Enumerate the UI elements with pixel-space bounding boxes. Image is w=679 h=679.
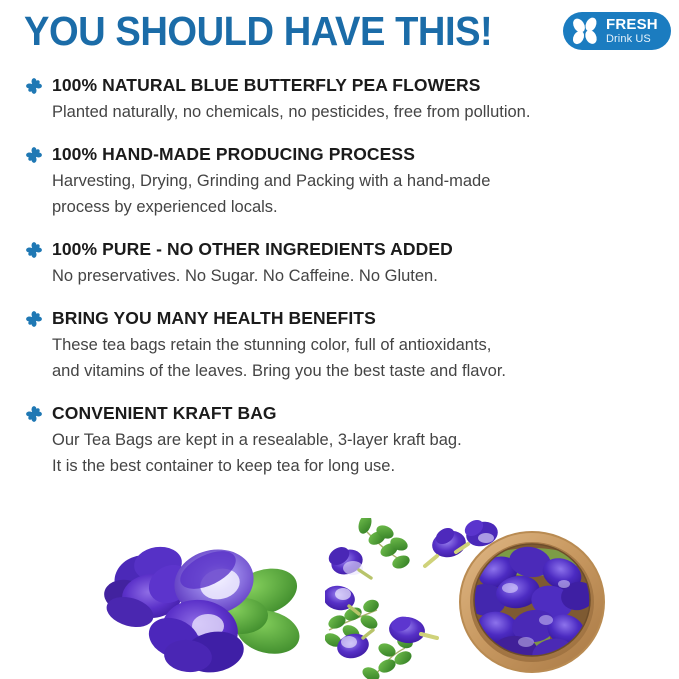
flower-asterisk-icon (26, 78, 42, 94)
feature-heading: 100% PURE - NO OTHER INGREDIENTS ADDED (52, 238, 679, 261)
logo-brand-primary: FRESH (606, 17, 658, 32)
logo-text: FRESH Drink US (606, 17, 658, 45)
feature-item: 100% PURE - NO OTHER INGREDIENTS ADDED N… (0, 238, 679, 289)
feature-body-line: Harvesting, Drying, Grinding and Packing… (52, 168, 679, 194)
feature-item: 100% HAND-MADE PRODUCING PROCESS Harvest… (0, 143, 679, 220)
feature-body-line: Planted naturally, no chemicals, no pest… (52, 99, 679, 125)
feature-body-line: Our Tea Bags are kept in a resealable, 3… (52, 427, 679, 453)
flower-asterisk-icon (26, 147, 42, 163)
butterfly-pea-flower-cluster-photo (96, 530, 316, 679)
feature-body: Planted naturally, no chemicals, no pest… (52, 99, 679, 125)
feature-item: CONVENIENT KRAFT BAG Our Tea Bags are ke… (0, 402, 679, 479)
feature-heading: 100% NATURAL BLUE BUTTERFLY PEA FLOWERS (52, 74, 679, 97)
feature-body-line: and vitamins of the leaves. Bring you th… (52, 358, 679, 384)
page-title: YOU SHOULD HAVE THIS! (24, 8, 492, 54)
flower-asterisk-icon (26, 311, 42, 327)
feature-body: No preservatives. No Sugar. No Caffeine.… (52, 263, 679, 289)
feature-body-line: process by experienced locals. (52, 194, 679, 220)
product-feature-infographic: YOU SHOULD HAVE THIS! FRESH Drink US (0, 0, 679, 679)
logo-brand-secondary: Drink US (606, 34, 658, 45)
product-photo-strip (0, 518, 679, 679)
feature-list: 100% NATURAL BLUE BUTTERFLY PEA FLOWERS … (0, 74, 679, 497)
feature-heading: BRING YOU MANY HEALTH BENEFITS (52, 307, 679, 330)
feature-item: BRING YOU MANY HEALTH BENEFITS These tea… (0, 307, 679, 384)
feature-body-line: It is the best container to keep tea for… (52, 453, 679, 479)
single-flower-photo (452, 518, 508, 563)
feature-body: These tea bags retain the stunning color… (52, 332, 679, 384)
feature-body-line: No preservatives. No Sugar. No Caffeine.… (52, 263, 679, 289)
feature-body: Our Tea Bags are kept in a resealable, 3… (52, 427, 679, 479)
header: YOU SHOULD HAVE THIS! FRESH Drink US (0, 0, 679, 66)
fresh-drink-us-logo[interactable]: FRESH Drink US (563, 12, 671, 50)
flower-asterisk-icon (26, 406, 42, 422)
feature-heading: 100% HAND-MADE PRODUCING PROCESS (52, 143, 679, 166)
feature-item: 100% NATURAL BLUE BUTTERFLY PEA FLOWERS … (0, 74, 679, 125)
feature-body: Harvesting, Drying, Grinding and Packing… (52, 168, 679, 220)
feature-heading: CONVENIENT KRAFT BAG (52, 402, 679, 425)
leaf-petals-icon (567, 14, 605, 48)
flower-asterisk-icon (26, 242, 42, 258)
feature-body-line: These tea bags retain the stunning color… (52, 332, 679, 358)
